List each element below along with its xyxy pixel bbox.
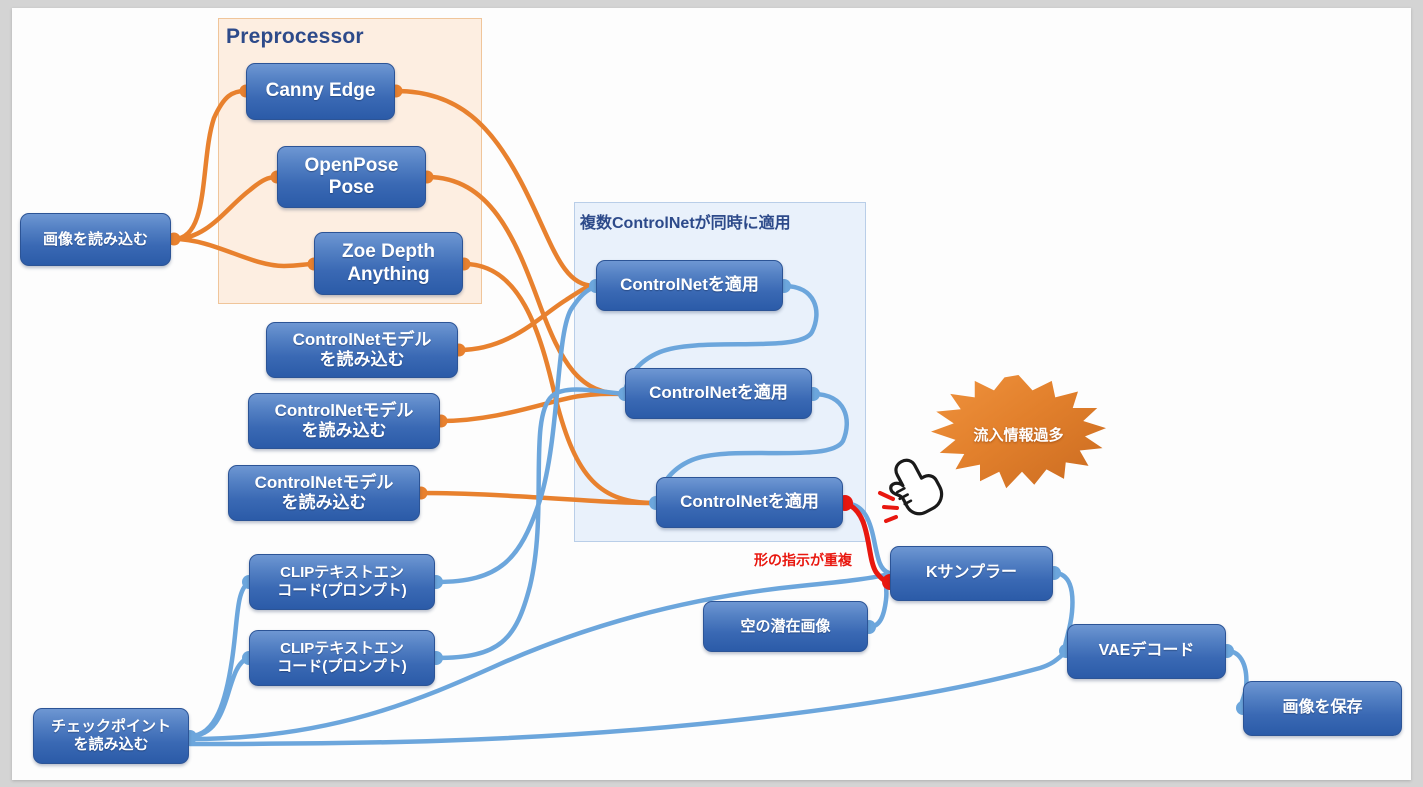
warning-burst-label: 流入情報過多 <box>973 424 1063 445</box>
edge-clip1-to-apply1 <box>436 287 595 582</box>
node-vae-decode[interactable]: VAEデコード <box>1067 624 1226 679</box>
edge-checkpoint-to-clip2 <box>190 658 248 736</box>
node-empty-latent-image[interactable]: 空の潜在画像 <box>703 601 868 652</box>
node-label: VAEデコード <box>1076 642 1217 661</box>
node-label: CLIPテキストエンコード(プロンプト) <box>258 564 426 599</box>
edge-latent-to-ksampler <box>869 573 889 627</box>
node-load-controlnet-model-3[interactable]: ControlNetモデルを読み込む <box>228 465 420 521</box>
node-label: Kサンプラー <box>899 564 1044 583</box>
node-load-checkpoint[interactable]: チェックポイントを読み込む <box>33 708 189 764</box>
node-apply-controlnet-1[interactable]: ControlNetを適用 <box>596 260 783 311</box>
node-apply-controlnet-3[interactable]: ControlNetを適用 <box>656 477 843 528</box>
node-label: ControlNetを適用 <box>634 383 803 403</box>
node-load-controlnet-model-1[interactable]: ControlNetモデルを読み込む <box>266 322 458 378</box>
warning-burst-badge: 流入情報過多 <box>931 375 1106 493</box>
node-label: Canny Edge <box>255 80 386 102</box>
pointing-hand-icon <box>884 452 946 523</box>
node-openpose-pose[interactable]: OpenPosePose <box>277 146 426 208</box>
node-label: ControlNetモデルを読み込む <box>257 401 431 441</box>
node-zoe-depth-anything[interactable]: Zoe DepthAnything <box>314 232 463 295</box>
node-label: ControlNetを適用 <box>605 275 774 295</box>
duplicate-shape-note: 形の指示が重複 <box>754 550 852 570</box>
node-save-image[interactable]: 画像を保存 <box>1243 681 1402 736</box>
node-label: 画像を保存 <box>1252 699 1393 718</box>
node-load-controlnet-model-2[interactable]: ControlNetモデルを読み込む <box>248 393 440 449</box>
node-label: Zoe DepthAnything <box>323 241 454 286</box>
group-preprocessor-label: Preprocessor <box>226 25 364 49</box>
node-clip-text-encode-2[interactable]: CLIPテキストエンコード(プロンプト) <box>249 630 435 686</box>
node-label: ControlNetモデルを読み込む <box>237 473 411 513</box>
node-label: CLIPテキストエンコード(プロンプト) <box>258 640 426 675</box>
node-load-image[interactable]: 画像を読み込む <box>20 213 171 266</box>
diagram-stage: Preprocessor 複数ControlNetが同時に適用 <box>0 0 1423 787</box>
node-ksampler[interactable]: Kサンプラー <box>890 546 1053 601</box>
node-clip-text-encode-1[interactable]: CLIPテキストエンコード(プロンプト) <box>249 554 435 610</box>
edge-checkpoint-to-clip1 <box>190 583 248 736</box>
node-label: 画像を読み込む <box>29 231 162 249</box>
node-label: ControlNetを適用 <box>665 492 834 512</box>
node-label: OpenPosePose <box>286 155 417 200</box>
group-multi-controlnet-label: 複数ControlNetが同時に適用 <box>580 209 791 233</box>
node-canny-edge[interactable]: Canny Edge <box>246 63 395 120</box>
node-label: ControlNetモデルを読み込む <box>275 330 449 370</box>
node-apply-controlnet-2[interactable]: ControlNetを適用 <box>625 368 812 419</box>
node-label: 空の潜在画像 <box>712 618 859 636</box>
node-label: チェックポイントを読み込む <box>42 718 180 753</box>
